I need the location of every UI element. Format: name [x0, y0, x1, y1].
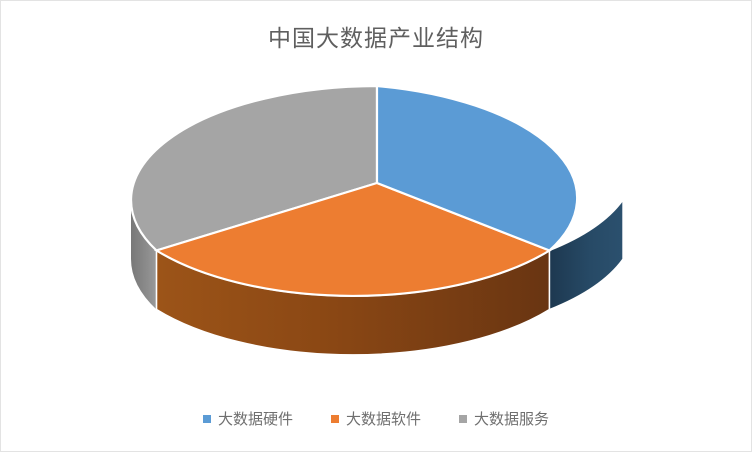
legend-item-label: 大数据软件 — [346, 408, 421, 429]
chart-legend: 大数据硬件 大数据软件 大数据服务 — [1, 408, 751, 429]
legend-item-dashuju-ruanjian[interactable]: 大数据软件 — [331, 408, 421, 429]
legend-item-dashuju-fuwu[interactable]: 大数据服务 — [459, 408, 549, 429]
legend-item-label: 大数据硬件 — [218, 408, 293, 429]
legend-square-icon — [459, 415, 467, 423]
legend-item-dashuju-yingjian[interactable]: 大数据硬件 — [203, 408, 293, 429]
pie-chart-svg — [1, 1, 752, 401]
legend-square-icon — [203, 415, 211, 423]
legend-item-label: 大数据服务 — [474, 408, 549, 429]
legend-square-icon — [331, 415, 339, 423]
chart-container: 中国大数据产业结构 — [0, 0, 752, 452]
pie-chart-plot-area — [1, 1, 752, 401]
